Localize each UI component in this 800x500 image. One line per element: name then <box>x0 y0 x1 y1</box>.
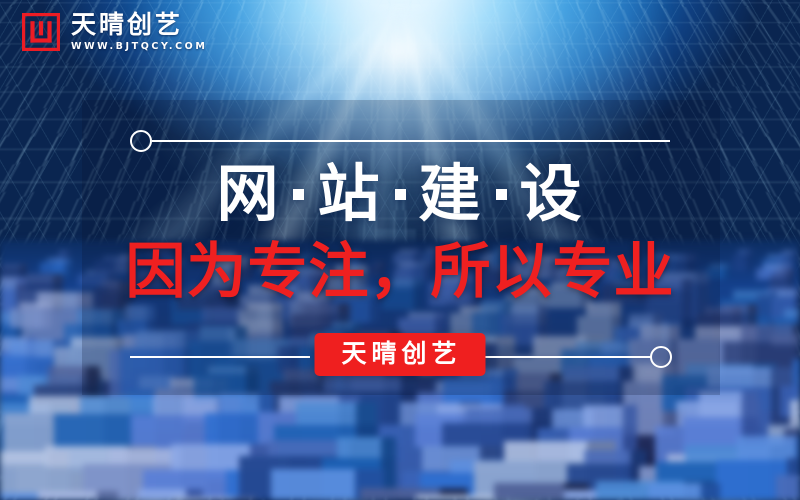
logo-company-name: 天晴创艺 <box>71 12 207 37</box>
brand-badge-label: 天晴创艺 <box>338 341 461 366</box>
subtitle-slogan: 因为专注，所以专业 <box>0 242 800 302</box>
bottom-divider-line-left <box>130 356 310 358</box>
logo-text-block: 天晴创艺 WWW.BJTQCY.COM <box>71 12 207 52</box>
headline-separator-dot <box>395 189 406 200</box>
bottom-divider-line-right <box>480 356 652 358</box>
headline-separator-dot <box>293 189 304 200</box>
top-divider-circle <box>130 130 152 152</box>
top-divider-line <box>152 140 670 142</box>
bottom-divider-circle <box>650 346 672 368</box>
logo-mark-icon <box>22 13 60 51</box>
headline-char-2: 站 <box>317 163 381 225</box>
headline-separator-dot <box>496 189 507 200</box>
headline: 网 站 建 设 <box>0 163 800 225</box>
brand-logo[interactable]: 天晴创艺 WWW.BJTQCY.COM <box>22 12 207 52</box>
brand-badge[interactable]: 天晴创艺 <box>314 333 485 376</box>
headline-char-1: 网 <box>216 163 280 225</box>
logo-website-url: WWW.BJTQCY.COM <box>71 42 207 52</box>
website-construction-banner: 天晴创艺 WWW.BJTQCY.COM 网 站 建 设 因为专注，所以专业 天晴… <box>0 0 800 500</box>
headline-char-4: 设 <box>520 163 584 225</box>
headline-char-3: 建 <box>419 163 483 225</box>
